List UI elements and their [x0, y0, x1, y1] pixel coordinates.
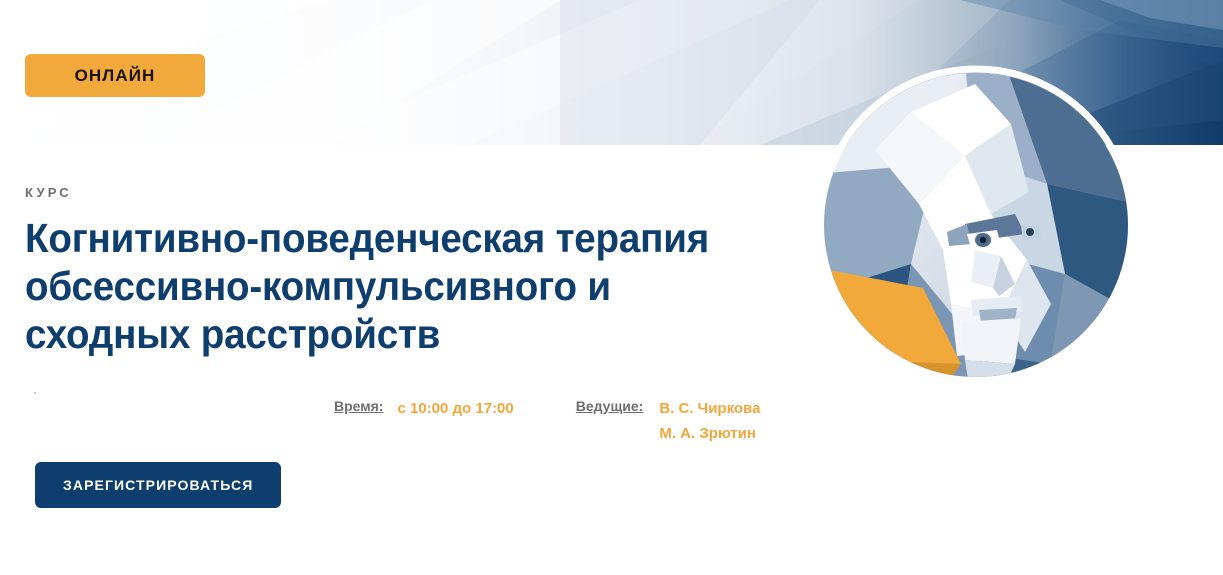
time-values: с 10:00 до 17:00: [397, 396, 513, 421]
stray-dot-artifact: [34, 392, 36, 394]
hosts-values: В. С. Чиркова М. А. Зрютин: [659, 396, 760, 446]
time-label: Время:: [334, 396, 383, 416]
host-name: В. С. Чиркова: [659, 396, 760, 421]
time-group: Время: с 10:00 до 17:00: [334, 396, 514, 421]
time-value: с 10:00 до 17:00: [397, 396, 513, 421]
host-name: М. А. Зрютин: [659, 421, 760, 446]
banner-meta-row: Время: с 10:00 до 17:00 Ведущие: В. С. Ч…: [334, 396, 760, 446]
banner-content: КУРС Когнитивно-поведенческая терапия об…: [25, 186, 815, 359]
online-badge-label: ОНЛАЙН: [75, 67, 156, 84]
hosts-group: Ведущие: В. С. Чиркова М. А. Зрютин: [576, 396, 761, 446]
course-banner: ОНЛАЙН КУРС Когнитивно-поведенческая тер…: [0, 0, 1223, 575]
hosts-label: Ведущие:: [576, 396, 644, 416]
register-button-label: ЗАРЕГИСТРИРОВАТЬСЯ: [63, 478, 253, 492]
low-poly-portrait-icon: [815, 64, 1137, 386]
kicker-label: КУРС: [25, 186, 815, 199]
online-badge: ОНЛАЙН: [25, 54, 205, 97]
register-button[interactable]: ЗАРЕГИСТРИРОВАТЬСЯ: [35, 462, 281, 508]
page-title: Когнитивно-поведенческая терапия обсесси…: [25, 215, 768, 359]
